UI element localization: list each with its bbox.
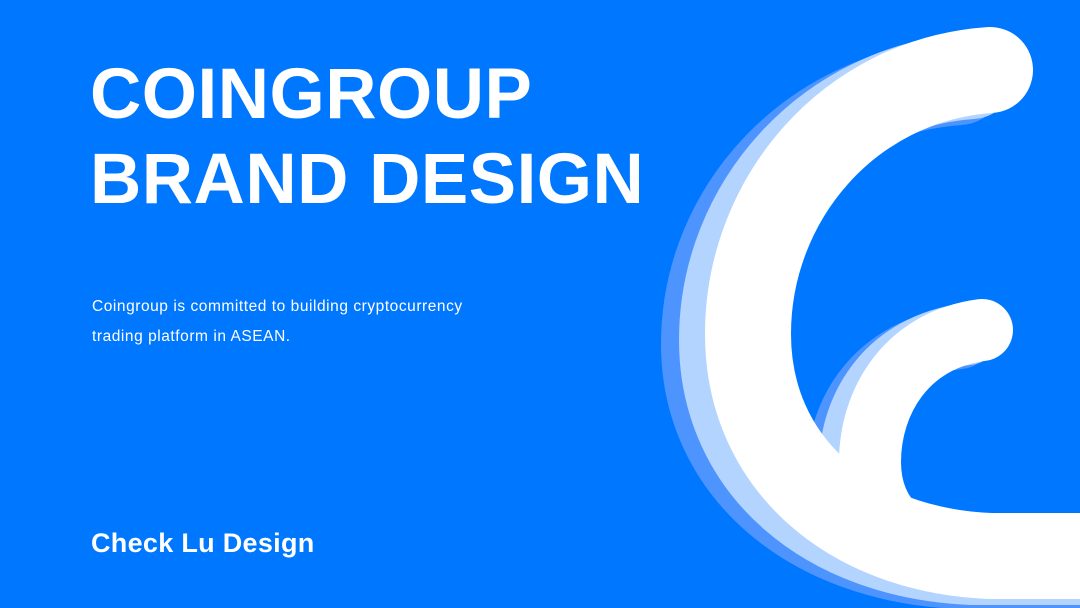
slide-canvas: COINGROUP BRAND DESIGN Coingroup is comm… xyxy=(0,0,1080,608)
footer-credit: Check Lu Design xyxy=(91,528,315,559)
headline-line-1: COINGROUP xyxy=(90,52,730,137)
text-content: COINGROUP BRAND DESIGN Coingroup is comm… xyxy=(90,0,730,608)
subtitle-text: Coingroup is committed to building crypt… xyxy=(92,292,652,352)
page-title: COINGROUP BRAND DESIGN xyxy=(90,52,730,222)
subtitle-line-1: Coingroup is committed to building crypt… xyxy=(92,292,652,322)
subtitle-line-2: trading platform in ASEAN. xyxy=(92,322,652,352)
headline-line-2: BRAND DESIGN xyxy=(90,137,730,222)
